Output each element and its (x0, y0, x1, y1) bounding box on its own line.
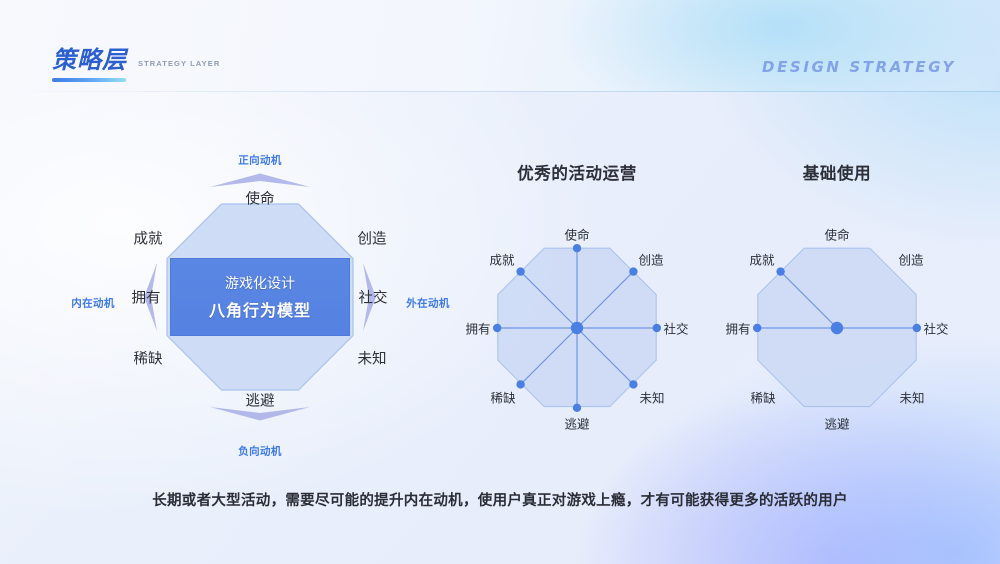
radar-label-excellent-scarcity: 稀缺 (490, 388, 515, 407)
slide-canvas: 策略层 STRATEGY LAYER DESIGN STRATEGY 游戏化设计… (0, 0, 1000, 564)
radar-label-excellent-avoidance: 逃避 (564, 414, 589, 433)
data-point-center (571, 322, 583, 334)
radar-chart-excellent-operation: 优秀的活动运营 (462, 160, 692, 440)
brand-block: 策略层 STRATEGY LAYER (52, 48, 127, 82)
radar-label-basic-achievement: 成就 (749, 250, 774, 269)
radar-label-excellent-unknown: 未知 (639, 388, 664, 407)
radar-label-basic-ownership: 拥有 (725, 319, 750, 338)
axis-label-positive-motivation: 正向动机 (238, 153, 282, 168)
radar-label-basic-unknown: 未知 (899, 388, 924, 407)
brand-subtitle-en: STRATEGY LAYER (138, 59, 220, 68)
radar-label-basic-scarcity: 稀缺 (750, 388, 775, 407)
brand-underline (52, 78, 126, 82)
main-node-label-mission: 使命 (246, 188, 275, 209)
model-center-box: 游戏化设计 八角行为模型 (170, 258, 350, 336)
center-box-line-2: 八角行为模型 (209, 297, 311, 321)
radar-label-excellent-creation: 创造 (638, 250, 663, 269)
main-node-label-social: 社交 (359, 287, 388, 308)
radar-label-excellent-achievement: 成就 (489, 250, 514, 269)
slide-header: 策略层 STRATEGY LAYER DESIGN STRATEGY (0, 0, 1000, 92)
up-chevron-icon (210, 174, 310, 188)
axis-label-extrinsic-motivation: 外在动机 (406, 296, 450, 311)
data-point-ownership (493, 324, 501, 332)
radar-title-excellent: 优秀的活动运营 (462, 160, 692, 184)
radar-label-excellent-social: 社交 (663, 319, 688, 338)
data-point-scarcity (516, 380, 524, 388)
main-node-label-ownership: 拥有 (132, 287, 161, 308)
radar-label-basic-avoidance: 逃避 (824, 414, 849, 433)
slide-caption: 长期或者大型活动，需要尽可能的提升内在动机，使用户真正对游戏上瘾，才有可能获得更… (0, 489, 1000, 510)
radar-title-basic: 基础使用 (722, 160, 952, 184)
main-node-label-scarcity: 稀缺 (134, 348, 163, 369)
center-box-line-1: 游戏化设计 (225, 273, 295, 293)
data-point-achievement (776, 267, 784, 275)
data-point-ownership (753, 324, 761, 332)
radar-label-basic-social: 社交 (923, 319, 948, 338)
data-point-center (831, 322, 843, 334)
main-node-label-creation: 创造 (358, 228, 387, 249)
data-point-mission (573, 244, 581, 252)
axis-label-negative-motivation: 负向动机 (238, 444, 282, 459)
brand-title-cn: 策略层 (52, 48, 127, 72)
octagon-behavior-model: 游戏化设计 八角行为模型 使命 创造 社交 未知 逃避 稀缺 拥有 成就 正向动… (60, 120, 470, 480)
data-point-achievement (516, 267, 524, 275)
header-right-title: DESIGN STRATEGY (762, 58, 956, 76)
radar-label-basic-creation: 创造 (898, 250, 923, 269)
main-node-label-unknown: 未知 (358, 348, 387, 369)
radar-label-excellent-ownership: 拥有 (465, 319, 490, 338)
radar-label-basic-mission: 使命 (824, 225, 849, 244)
data-point-social (913, 324, 921, 332)
main-node-label-avoidance: 逃避 (246, 390, 275, 411)
data-point-avoidance (573, 404, 581, 412)
axis-label-intrinsic-motivation: 内在动机 (71, 296, 115, 311)
data-point-social (653, 324, 661, 332)
radar-chart-basic-usage: 基础使用 使命 创造 社交 未知 逃避 稀缺 拥有 成就 (722, 160, 952, 440)
main-node-label-achievement: 成就 (134, 228, 163, 249)
radar-label-excellent-mission: 使命 (564, 225, 589, 244)
data-point-creation (629, 267, 637, 275)
data-point-unknown (629, 380, 637, 388)
